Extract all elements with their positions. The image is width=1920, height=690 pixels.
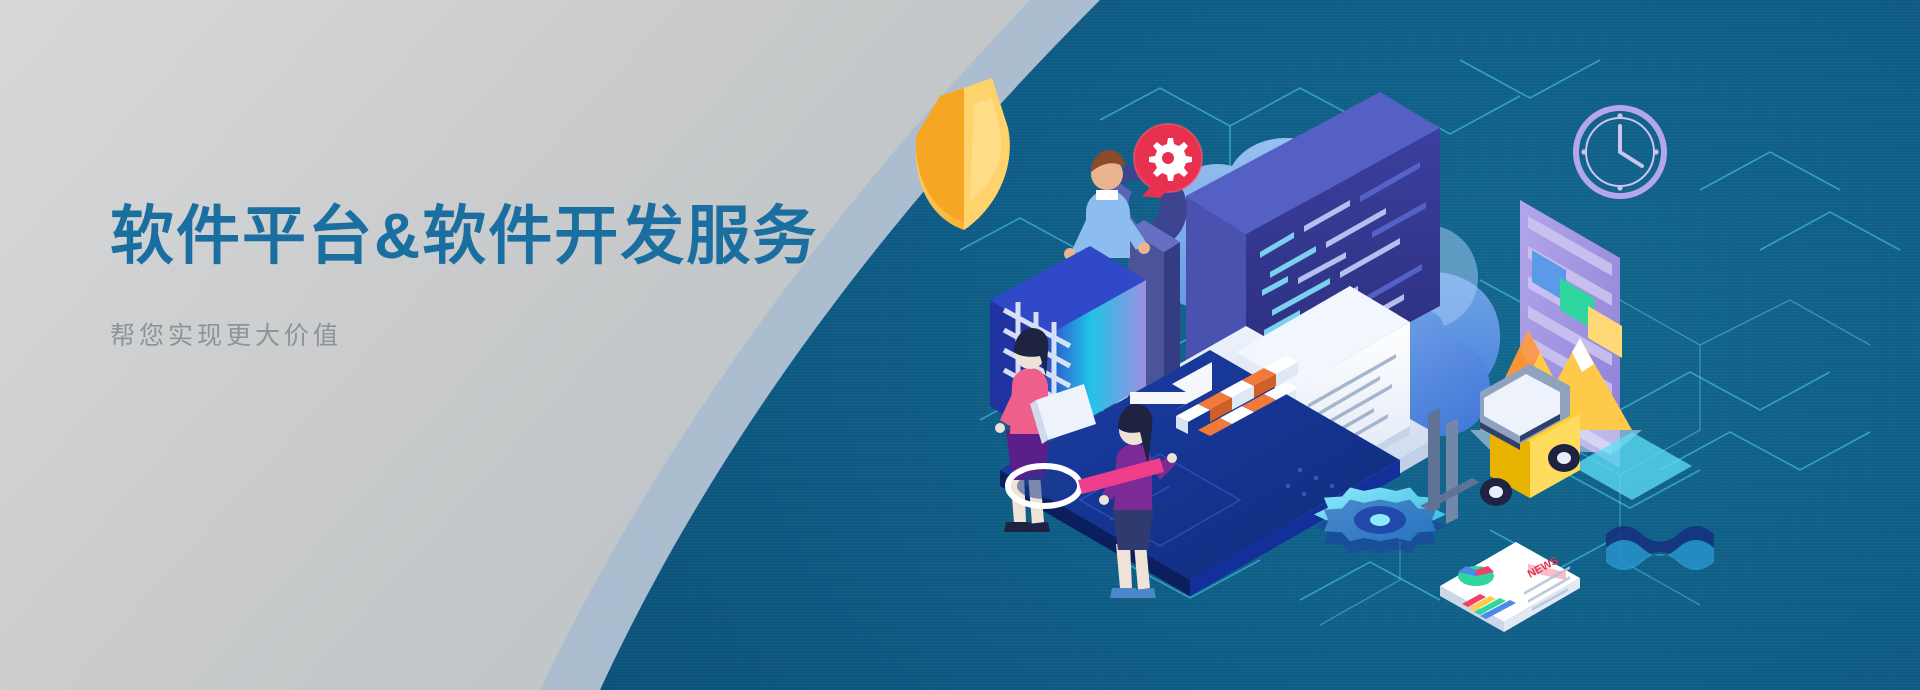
wave-graphic [1606, 526, 1714, 570]
pie-chart-graphic [1458, 566, 1494, 586]
gear-wheel-icon [1314, 488, 1446, 554]
hero-text-block: 软件平台&软件开发服务 帮您实现更大价值 [110, 200, 818, 352]
shield-icon [916, 78, 1010, 230]
clock-icon [1576, 108, 1664, 196]
page-subtitle: 帮您实现更大价值 [110, 316, 818, 352]
page-title: 软件平台&软件开发服务 [110, 200, 818, 274]
hero-banner: NEWS [0, 0, 1920, 690]
hero-illustration: NEWS [880, 0, 1920, 690]
news-report-card: NEWS [1440, 542, 1580, 632]
